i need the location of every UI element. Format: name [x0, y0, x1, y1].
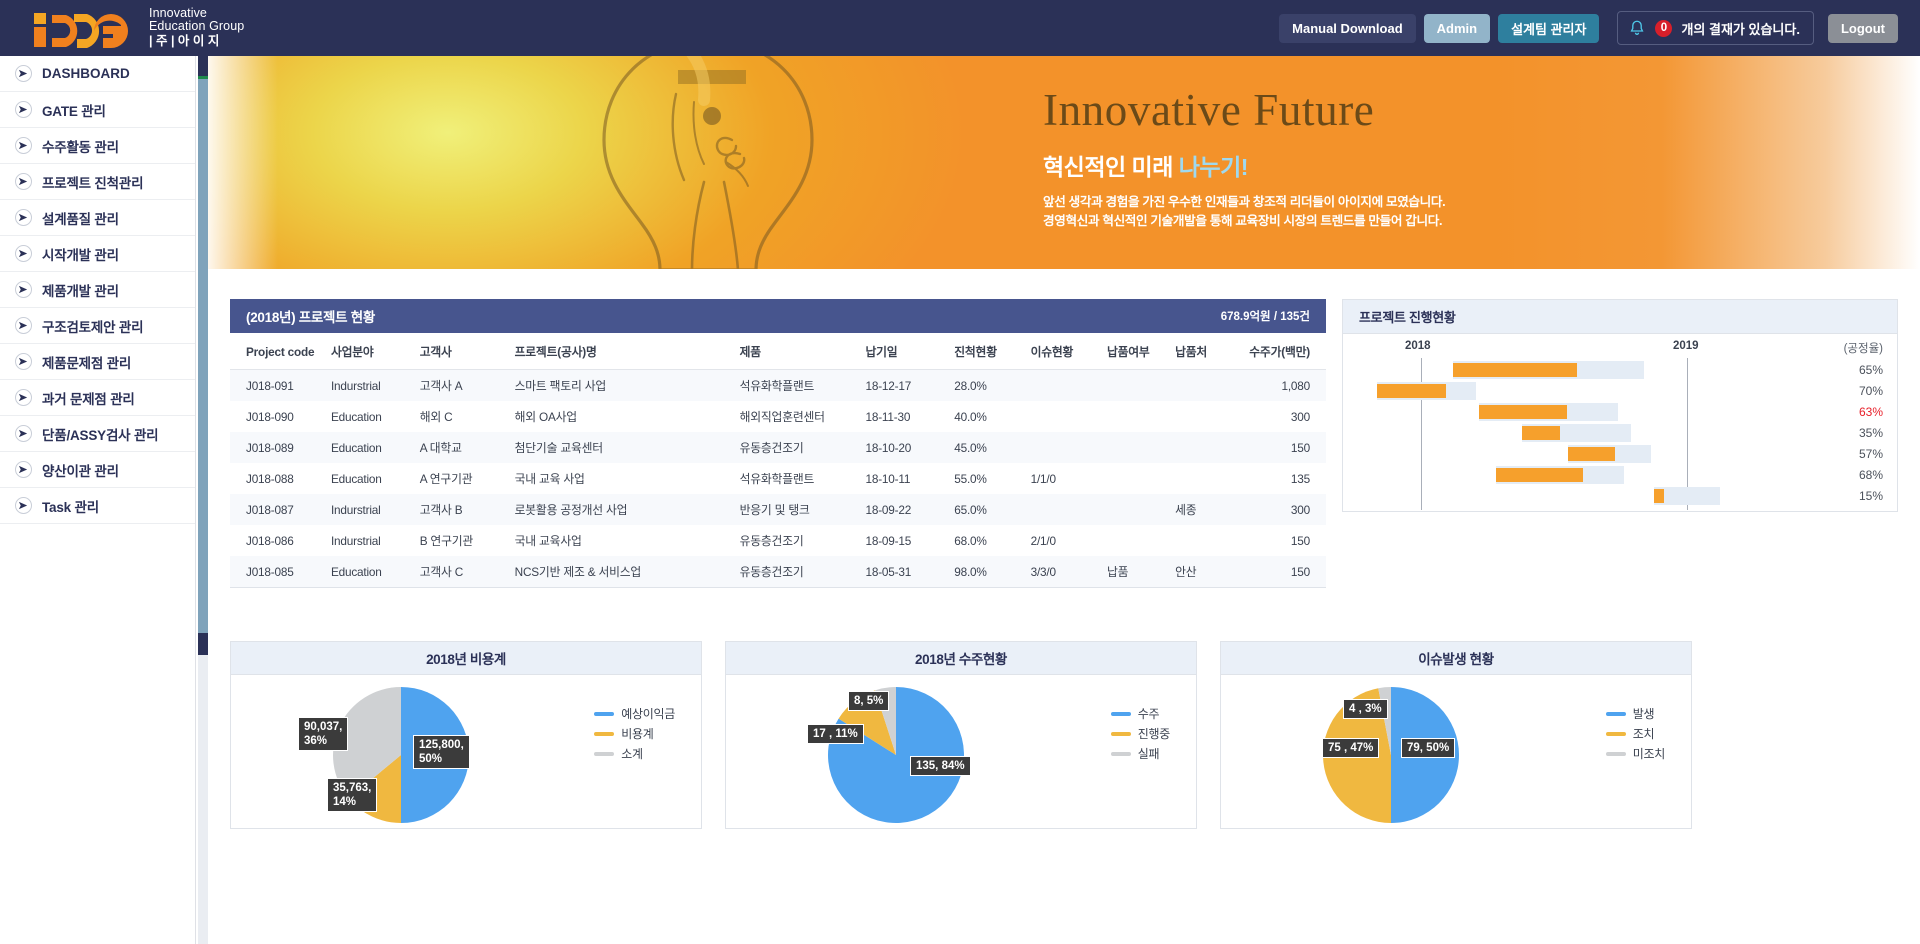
idg-logo-icon	[32, 11, 140, 49]
pie-legend: 발생조치미조치	[1606, 705, 1665, 765]
legend-swatch-icon	[1111, 752, 1131, 756]
arrow-circle-icon	[15, 65, 32, 82]
pie-data-label: 8, 5%	[848, 691, 889, 711]
cell-project-code: J018-086	[230, 525, 325, 556]
cell-product: 석유화학플랜트	[734, 370, 860, 402]
legend-item: 예상이익금	[594, 705, 675, 722]
cell-issue: 3/3/0	[1025, 556, 1101, 588]
cell-product: 유동층건조기	[734, 525, 860, 556]
scrollbar-thumb[interactable]	[198, 79, 208, 633]
cell-issue	[1025, 432, 1101, 463]
cell-issue	[1025, 401, 1101, 432]
arrow-circle-icon	[15, 389, 32, 406]
sidebar-item-label: 단품/ASSY검사 관리	[42, 424, 158, 444]
scrollbar-track[interactable]	[198, 655, 208, 944]
gantt-gridline-2018	[1421, 358, 1422, 510]
gantt-bar-fill	[1496, 468, 1584, 482]
table-row[interactable]: J018-088EducationA 연구기관국내 교육 사업석유화학플랜트18…	[230, 463, 1326, 494]
cell-customer: A 대학교	[414, 432, 509, 463]
approval-alert[interactable]: 0 개의 결재가 있습니다.	[1617, 11, 1813, 45]
cell-delivery-place	[1169, 525, 1233, 556]
content-scrollbar[interactable]	[196, 56, 208, 944]
brand-logo[interactable]: Innovative Education Group | 주 | 아 이 지	[32, 7, 244, 50]
sidebar-item-label: 제품문제점 관리	[42, 352, 131, 372]
th-amount[interactable]: 수주가(백만)	[1233, 333, 1326, 370]
hero-description: 앞선 생각과 경험을 가진 우수한 인재들과 창조적 리더들이 아이지에 모였습…	[1043, 193, 1603, 232]
gantt-chart: 20182019(공정율)65%70%63%35%57%68%15%	[1343, 334, 1897, 512]
sidebar-item-label: 시작개발 관리	[42, 244, 119, 264]
th-issue[interactable]: 이슈현황	[1025, 333, 1101, 370]
th-product[interactable]: 제품	[734, 333, 860, 370]
cell-delivered	[1101, 525, 1169, 556]
legend-item: 발생	[1606, 705, 1665, 722]
table-row[interactable]: J018-091Indurstrial고객사 A스마트 팩토리 사업석유화학플랜…	[230, 370, 1326, 402]
legend-swatch-icon	[1111, 712, 1131, 716]
cell-progress: 68.0%	[948, 525, 1024, 556]
sidebar-item-11[interactable]: 양산이관 관리	[0, 452, 195, 488]
cell-business-field: Education	[325, 556, 414, 588]
cell-business-field: Education	[325, 432, 414, 463]
arrow-circle-icon	[15, 353, 32, 370]
legend-label: 조치	[1633, 725, 1654, 742]
th-due-date[interactable]: 납기일	[859, 333, 948, 370]
gantt-axis-2018: 2018	[1405, 340, 1431, 352]
bell-icon	[1628, 19, 1646, 37]
cell-customer: B 연구기관	[414, 525, 509, 556]
sidebar-item-label: GATE 관리	[42, 100, 106, 120]
sidebar-item-label: 과거 문제점 관리	[42, 388, 135, 408]
cell-delivered	[1101, 463, 1169, 494]
sidebar-item-6[interactable]: 제품개발 관리	[0, 272, 195, 308]
pie-data-label: 90,037, 36%	[298, 717, 348, 751]
arrow-circle-icon	[15, 425, 32, 442]
legend-item: 실패	[1111, 745, 1170, 762]
legend-item: 수주	[1111, 705, 1170, 722]
cell-project-name: 첨단기술 교육센터	[509, 432, 734, 463]
sidebar-item-10[interactable]: 단품/ASSY검사 관리	[0, 416, 195, 452]
gantt-bar-track	[1496, 466, 1625, 484]
arrow-circle-icon	[15, 497, 32, 514]
sidebar-item-8[interactable]: 제품문제점 관리	[0, 344, 195, 380]
cell-issue	[1025, 370, 1101, 402]
cell-delivered: 납품	[1101, 556, 1169, 588]
legend-swatch-icon	[1606, 752, 1626, 756]
cell-project-code: J018-091	[230, 370, 325, 402]
sidebar-item-label: 프로젝트 진척관리	[42, 172, 143, 192]
cell-progress: 40.0%	[948, 401, 1024, 432]
th-delivery-place[interactable]: 납품처	[1169, 333, 1233, 370]
table-row[interactable]: J018-087Indurstrial고객사 B로봇활용 공정개선 사업반응기 …	[230, 494, 1326, 525]
hero-desc-line-2: 경영혁신과 혁신적인 기술개발을 통해 교육장비 시장의 트렌드를 만들어 갑니…	[1043, 212, 1603, 232]
legend-label: 수주	[1138, 705, 1159, 722]
pie-data-label: 79, 50%	[1401, 738, 1455, 758]
cell-project-code: J018-085	[230, 556, 325, 588]
project-table: Project code 사업분야 고객사 프로젝트(공사)명 제품 납기일 진…	[230, 333, 1326, 588]
arrow-circle-icon	[15, 209, 32, 226]
gantt-rate-value: 65%	[1859, 363, 1883, 377]
cell-delivery-place	[1169, 370, 1233, 402]
manual-download-button[interactable]: Manual Download	[1279, 14, 1416, 43]
pie-data-label: 17 , 11%	[807, 724, 864, 744]
issue-pie-body: 발생조치미조치79, 50%75 , 47%4 , 3%	[1221, 675, 1691, 828]
cell-product: 반응기 및 탱크	[734, 494, 860, 525]
pie-legend: 예상이익금비용계소계	[594, 705, 675, 765]
sidebar-item-3[interactable]: 프로젝트 진척관리	[0, 164, 195, 200]
project-status-summary: 678.9억원 / 135건	[1221, 308, 1310, 324]
cell-delivered	[1101, 370, 1169, 402]
sidebar-nav: DASHBOARDGATE 관리수주활동 관리프로젝트 진척관리설계품질 관리시…	[0, 56, 196, 944]
app-header: Innovative Education Group | 주 | 아 이 지 M…	[0, 0, 1920, 56]
pie-data-label: 125,800, 50%	[413, 735, 470, 769]
pie-data-label: 35,763, 14%	[327, 778, 377, 812]
legend-label: 예상이익금	[621, 705, 675, 722]
cell-project-code: J018-088	[230, 463, 325, 494]
gantt-bar-track	[1522, 424, 1631, 442]
legend-label: 실패	[1138, 745, 1159, 762]
arrow-circle-icon	[15, 137, 32, 154]
header-actions: Manual Download Admin 설계팀 관리자 0 개의 결재가 있…	[1279, 11, 1898, 45]
cell-project-name: 국내 교육 사업	[509, 463, 734, 494]
scrollbar-top-cap	[198, 56, 208, 76]
hero-left-fade	[208, 56, 278, 269]
th-progress[interactable]: 진척현황	[948, 333, 1024, 370]
gantt-bar-fill	[1522, 426, 1560, 440]
hero-subtitle-accent: 나누기!	[1179, 154, 1248, 180]
cell-due-date: 18-10-11	[859, 463, 948, 494]
cell-business-field: Education	[325, 463, 414, 494]
legend-swatch-icon	[594, 712, 614, 716]
gantt-rate-value: 63%	[1859, 405, 1883, 419]
cell-issue	[1025, 494, 1101, 525]
brand-line-3: | 주 | 아 이 지	[149, 35, 244, 49]
sidebar-item-12[interactable]: Task 관리	[0, 488, 195, 524]
legend-item: 미조치	[1606, 745, 1665, 762]
cell-delivery-place	[1169, 432, 1233, 463]
cell-product: 유동층건조기	[734, 556, 860, 588]
cell-business-field: Indurstrial	[325, 370, 414, 402]
cell-amount: 150	[1233, 432, 1326, 463]
pie-data-label: 75 , 47%	[1322, 738, 1379, 758]
brand-line-1: Innovative	[149, 7, 244, 21]
cell-delivered	[1101, 401, 1169, 432]
th-business-field[interactable]: 사업분야	[325, 333, 414, 370]
hero-subtitle-main: 혁신적인 미래	[1043, 154, 1179, 180]
cell-delivery-place: 안산	[1169, 556, 1233, 588]
cost-pie-panel: 2018년 비용계 예상이익금비용계소계125,800, 50%35,763, …	[230, 641, 702, 829]
hero-banner: Innovative Future 혁신적인 미래 나누기! 앞선 생각과 경험…	[208, 56, 1920, 269]
project-status-title: (2018년) 프로젝트 현황	[246, 306, 375, 326]
cost-pie-header: 2018년 비용계	[231, 642, 701, 675]
legend-swatch-icon	[1111, 732, 1131, 736]
table-row[interactable]: J018-085Education고객사 CNCS기반 제조 & 서비스업유동층…	[230, 556, 1326, 588]
table-row[interactable]: J018-090Education해외 C해외 OA사업해외직업훈련센터18-1…	[230, 401, 1326, 432]
cell-progress: 28.0%	[948, 370, 1024, 402]
cell-product: 해외직업훈련센터	[734, 401, 860, 432]
cell-customer: 고객사 C	[414, 556, 509, 588]
main-content: Innovative Future 혁신적인 미래 나누기! 앞선 생각과 경험…	[208, 56, 1920, 944]
legend-swatch-icon	[594, 752, 614, 756]
legend-label: 발생	[1633, 705, 1654, 722]
legend-item: 진행중	[1111, 725, 1170, 742]
cell-due-date: 18-05-31	[859, 556, 948, 588]
sidebar-item-label: 양산이관 관리	[42, 460, 119, 480]
cell-business-field: Education	[325, 401, 414, 432]
project-table-head: Project code 사업분야 고객사 프로젝트(공사)명 제품 납기일 진…	[230, 333, 1326, 370]
cell-customer: A 연구기관	[414, 463, 509, 494]
cost-pie-body: 예상이익금비용계소계125,800, 50%35,763, 14%90,037,…	[231, 675, 701, 828]
cell-due-date: 18-10-20	[859, 432, 948, 463]
gantt-bar-track	[1377, 382, 1476, 400]
arrow-circle-icon	[15, 281, 32, 298]
cell-amount: 300	[1233, 494, 1326, 525]
sidebar-item-5[interactable]: 시작개발 관리	[0, 236, 195, 272]
brand-subtext: Innovative Education Group | 주 | 아 이 지	[149, 7, 244, 50]
sidebar-item-label: 설계품질 관리	[42, 208, 119, 228]
gantt-bar-track	[1453, 361, 1644, 379]
legend-swatch-icon	[1606, 732, 1626, 736]
cell-progress: 65.0%	[948, 494, 1024, 525]
cell-progress: 45.0%	[948, 432, 1024, 463]
cell-delivered	[1101, 432, 1169, 463]
gantt-rate-value: 57%	[1859, 447, 1883, 461]
legend-swatch-icon	[594, 732, 614, 736]
hero-desc-line-1: 앞선 생각과 경험을 가진 우수한 인재들과 창조적 리더들이 아이지에 모였습…	[1043, 193, 1603, 213]
project-progress-header: 프로젝트 진행현황	[1343, 300, 1897, 334]
cell-due-date: 18-09-15	[859, 525, 948, 556]
arrow-circle-icon	[15, 173, 32, 190]
hero-text-block: Innovative Future 혁신적인 미래 나누기! 앞선 생각과 경험…	[1043, 86, 1603, 232]
hero-title: Innovative Future	[1043, 86, 1603, 136]
gantt-bar-track	[1568, 445, 1651, 463]
th-project-name[interactable]: 프로젝트(공사)명	[509, 333, 734, 370]
arrow-circle-icon	[15, 317, 32, 334]
gantt-bar-fill	[1453, 363, 1577, 377]
cell-amount: 150	[1233, 556, 1326, 588]
issue-pie-header: 이슈발생 현황	[1221, 642, 1691, 675]
cell-business-field: Indurstrial	[325, 494, 414, 525]
order-pie-panel: 2018년 수주현황 수주진행중실패135, 84%17 , 11%8, 5%	[725, 641, 1197, 829]
legend-label: 미조치	[1633, 745, 1665, 762]
project-status-header: (2018년) 프로젝트 현황 678.9억원 / 135건	[230, 299, 1326, 333]
cell-project-name: 국내 교육사업	[509, 525, 734, 556]
cell-delivery-place	[1169, 463, 1233, 494]
project-progress-title: 프로젝트 진행현황	[1359, 307, 1456, 326]
legend-label: 소계	[621, 745, 642, 762]
gantt-rate-value: 68%	[1859, 468, 1883, 482]
arrow-circle-icon	[15, 101, 32, 118]
project-progress-panel: 프로젝트 진행현황 20182019(공정율)65%70%63%35%57%68…	[1342, 299, 1898, 512]
order-pie-body: 수주진행중실패135, 84%17 , 11%8, 5%	[726, 675, 1196, 828]
cell-due-date: 18-12-17	[859, 370, 948, 402]
cell-issue: 2/1/0	[1025, 525, 1101, 556]
gantt-rate-header: (공정율)	[1844, 340, 1883, 356]
issue-pie-title: 이슈발생 현황	[1418, 648, 1493, 668]
cell-project-name: 스마트 팩토리 사업	[509, 370, 734, 402]
project-status-panel: (2018년) 프로젝트 현황 678.9억원 / 135건 Project c…	[230, 299, 1326, 512]
sidebar-item-0[interactable]: DASHBOARD	[0, 56, 195, 92]
legend-label: 비용계	[621, 725, 653, 742]
sidebar-item-1[interactable]: GATE 관리	[0, 92, 195, 128]
gantt-bar-fill	[1377, 384, 1446, 398]
cell-product: 석유화학플랜트	[734, 463, 860, 494]
cell-amount: 135	[1233, 463, 1326, 494]
sidebar-item-label: 구조검토제안 관리	[42, 316, 143, 336]
gantt-bar-fill	[1568, 447, 1615, 461]
gantt-bar-track	[1479, 403, 1618, 421]
cell-customer: 고객사 B	[414, 494, 509, 525]
arrow-circle-icon	[15, 245, 32, 262]
project-table-header-row: Project code 사업분야 고객사 프로젝트(공사)명 제품 납기일 진…	[230, 333, 1326, 370]
cost-pie-title: 2018년 비용계	[426, 648, 506, 668]
project-table-body: J018-091Indurstrial고객사 A스마트 팩토리 사업석유화학플랜…	[230, 370, 1326, 588]
gantt-rate-value: 15%	[1859, 489, 1883, 503]
sidebar-item-2[interactable]: 수주활동 관리	[0, 128, 195, 164]
cell-progress: 55.0%	[948, 463, 1024, 494]
th-project-code[interactable]: Project code	[230, 333, 325, 370]
hero-subtitle: 혁신적인 미래 나누기!	[1043, 148, 1603, 182]
cell-issue: 1/1/0	[1025, 463, 1101, 494]
th-delivered[interactable]: 납품여부	[1101, 333, 1169, 370]
pie-legend: 수주진행중실패	[1111, 705, 1170, 765]
cell-customer: 고객사 A	[414, 370, 509, 402]
sidebar-item-label: Task 관리	[42, 496, 99, 516]
brand-line-2: Education Group	[149, 20, 244, 34]
approval-count-badge: 0	[1655, 20, 1672, 37]
legend-item: 소계	[594, 745, 675, 762]
gantt-bar-fill	[1654, 489, 1664, 503]
cell-amount: 300	[1233, 401, 1326, 432]
sidebar-item-4[interactable]: 설계품질 관리	[0, 200, 195, 236]
pie-data-label: 4 , 3%	[1343, 699, 1388, 719]
cell-project-code: J018-090	[230, 401, 325, 432]
cell-project-code: J018-089	[230, 432, 325, 463]
cell-due-date: 18-11-30	[859, 401, 948, 432]
cell-business-field: Indurstrial	[325, 525, 414, 556]
cell-project-name: 로봇활용 공정개선 사업	[509, 494, 734, 525]
cell-due-date: 18-09-22	[859, 494, 948, 525]
pie-data-label: 135, 84%	[910, 756, 971, 776]
cell-progress: 98.0%	[948, 556, 1024, 588]
lightbulb-illustration-icon	[508, 56, 908, 269]
table-row[interactable]: J018-089EducationA 대학교첨단기술 교육센터유동층건조기18-…	[230, 432, 1326, 463]
legend-label: 진행중	[1138, 725, 1170, 742]
gantt-rate-value: 35%	[1859, 426, 1883, 440]
cell-delivery-place	[1169, 401, 1233, 432]
table-row[interactable]: J018-086IndurstrialB 연구기관국내 교육사업유동층건조기18…	[230, 525, 1326, 556]
approval-alert-text: 개의 결재가 있습니다.	[1681, 19, 1799, 38]
sidebar-item-label: DASHBOARD	[42, 66, 130, 81]
gantt-rate-value: 70%	[1859, 384, 1883, 398]
order-pie-title: 2018년 수주현황	[915, 648, 1007, 668]
gantt-bar-track	[1654, 487, 1720, 505]
legend-swatch-icon	[1606, 712, 1626, 716]
cell-amount: 1,080	[1233, 370, 1326, 402]
legend-item: 비용계	[594, 725, 675, 742]
cell-delivered	[1101, 494, 1169, 525]
cell-amount: 150	[1233, 525, 1326, 556]
team-manager-button[interactable]: 설계팀 관리자	[1498, 14, 1599, 43]
order-pie-header: 2018년 수주현황	[726, 642, 1196, 675]
sidebar-item-7[interactable]: 구조검토제안 관리	[0, 308, 195, 344]
cell-product: 유동층건조기	[734, 432, 860, 463]
th-customer[interactable]: 고객사	[414, 333, 509, 370]
arrow-circle-icon	[15, 461, 32, 478]
legend-item: 조치	[1606, 725, 1665, 742]
issue-pie-panel: 이슈발생 현황 발생조치미조치79, 50%75 , 47%4 , 3%	[1220, 641, 1692, 829]
sidebar-item-9[interactable]: 과거 문제점 관리	[0, 380, 195, 416]
logout-button[interactable]: Logout	[1828, 14, 1898, 43]
admin-button[interactable]: Admin	[1424, 14, 1490, 43]
cell-project-name: 해외 OA사업	[509, 401, 734, 432]
cell-project-code: J018-087	[230, 494, 325, 525]
cell-project-name: NCS기반 제조 & 서비스업	[509, 556, 734, 588]
sidebar-item-label: 제품개발 관리	[42, 280, 119, 300]
cell-delivery-place: 세종	[1169, 494, 1233, 525]
gantt-bar-fill	[1479, 405, 1566, 419]
cell-customer: 해외 C	[414, 401, 509, 432]
sidebar-item-label: 수주활동 관리	[42, 136, 119, 156]
scrollbar-bottom-cap	[198, 633, 208, 655]
gantt-axis-2019: 2019	[1673, 340, 1699, 352]
